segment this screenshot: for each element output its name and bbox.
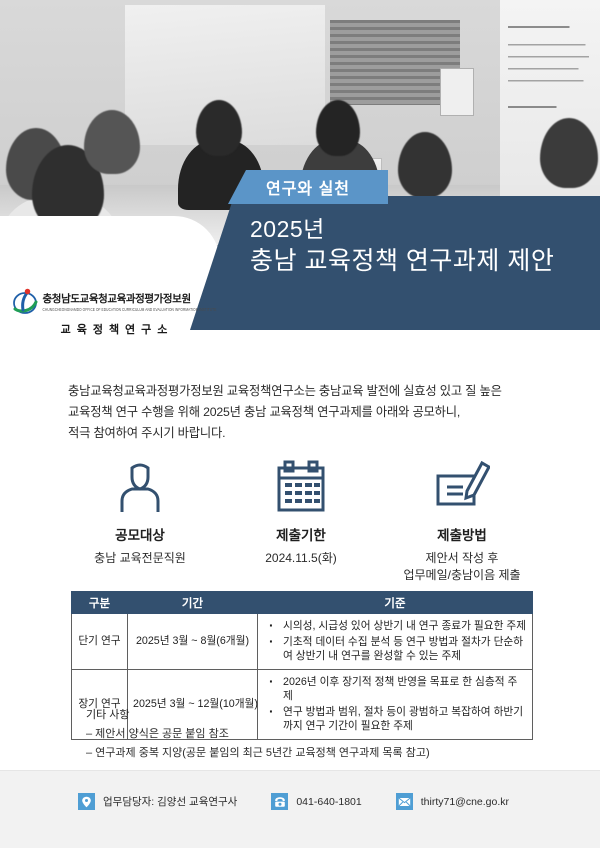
footer-phone: 041-640-1801 xyxy=(271,793,361,810)
notes-title: 기타 사항 xyxy=(86,706,430,725)
poster-page: 연구와 실천 2025년 충남 교육정책 연구과제 제안 충청남도교육청교육과정… xyxy=(0,0,600,848)
info-columns: 공모대상 충남 교육전문직원 xyxy=(60,458,542,584)
info-title: 제출기한 xyxy=(276,524,326,544)
intro-paragraph: 충남교육청교육과정평가정보원 교육정책연구소는 충남교육 발전에 실효성 있고 … xyxy=(68,381,538,444)
info-column-target: 공모대상 충남 교육전문직원 xyxy=(60,458,220,584)
title-line-2: 충남 교육정책 연구과제 제안 xyxy=(250,244,554,278)
notes-item: – 연구과제 중복 지양(공문 붙임의 최근 5년간 교육정책 연구과제 목록 … xyxy=(86,744,430,763)
ribbon-label: 연구와 실천 xyxy=(266,175,350,199)
table-header-cell: 구분 xyxy=(72,592,128,614)
criteria-item: 기초적 데이터 수집 분석 등 연구 방법과 절차가 단순하여 상반기 내 연구… xyxy=(263,635,527,664)
footer-contact-person: 업무담당자: 김양선 교육연구사 xyxy=(78,793,237,810)
info-title: 공모대상 xyxy=(115,524,165,544)
footer-email-text: thirty71@cne.go.kr xyxy=(421,796,509,808)
info-desc-line: 충남 교육전문직원 xyxy=(94,550,186,567)
info-desc-line: 업무메일/충남이음 제출 xyxy=(403,567,520,584)
footer-email: thirty71@cne.go.kr xyxy=(396,793,509,810)
table-cell-period: 2025년 3월 ~ 8월(6개월) xyxy=(128,614,258,670)
logo-organization-name: 충청남도교육청교육과정평가정보원 xyxy=(43,291,217,306)
criteria-item: 2026년 이후 장기적 정책 반영을 목표로 한 심층적 주제 xyxy=(263,675,527,704)
calendar-icon xyxy=(276,458,326,514)
swoosh-emblem-icon xyxy=(12,287,38,315)
info-desc: 충남 교육전문직원 xyxy=(94,550,186,567)
person-head xyxy=(196,100,242,156)
intro-line-3: 적극 참여하여 주시기 바랍니다. xyxy=(68,423,538,444)
info-title: 제출방법 xyxy=(437,524,487,544)
info-column-deadline: 제출기한 2024.11.5(화) xyxy=(221,458,381,584)
logo-organization-roman: CHUNGCHEONGNAMDO OFFICE OF EDUCATION CUR… xyxy=(43,307,217,313)
notes-section: 기타 사항 – 제안서 양식은 공문 붙임 참조 – 연구과제 중복 지양(공문… xyxy=(86,706,430,763)
footer-phone-text: 041-640-1801 xyxy=(296,796,361,808)
table-header-row: 구분 기간 기준 xyxy=(72,592,533,614)
info-desc: 제안서 작성 후 업무메일/충남이음 제출 xyxy=(403,550,520,584)
phone-icon xyxy=(271,793,288,810)
easel-card xyxy=(440,68,474,116)
person-icon xyxy=(117,458,163,514)
organization-logo: 충청남도교육청교육과정평가정보원 CHUNGCHEONGNAMDO OFFICE… xyxy=(14,287,214,337)
info-desc: 2024.11.5(화) xyxy=(265,550,337,567)
info-desc-line: 2024.11.5(화) xyxy=(265,550,337,567)
wall-poster xyxy=(508,10,596,130)
notes-item: – 제안서 양식은 공문 붙임 참조 xyxy=(86,725,430,744)
person-head xyxy=(316,100,360,156)
intro-line-2: 교육정책 연구 수행을 위해 2025년 충남 교육정책 연구과제를 아래와 공… xyxy=(68,402,538,423)
document-pencil-icon xyxy=(434,458,490,514)
location-pin-icon xyxy=(78,793,95,810)
info-desc-line: 제안서 작성 후 xyxy=(403,550,520,567)
logo-institute-name: 교육정책연구소 xyxy=(55,321,174,337)
table-cell-kind: 단기 연구 xyxy=(72,614,128,670)
table-header-cell: 기준 xyxy=(258,592,533,614)
ribbon-banner: 연구와 실천 xyxy=(228,170,388,204)
title-line-1: 2025년 xyxy=(250,214,554,244)
footer-contact-text: 업무담당자: 김양선 교육연구사 xyxy=(103,794,237,809)
table-header-cell: 기간 xyxy=(128,592,258,614)
envelope-icon xyxy=(396,793,413,810)
info-column-method: 제출방법 제안서 작성 후 업무메일/충남이음 제출 xyxy=(382,458,542,584)
page-title: 2025년 충남 교육정책 연구과제 제안 xyxy=(250,214,554,278)
intro-line-1: 충남교육청교육과정평가정보원 교육정책연구소는 충남교육 발전에 실효성 있고 … xyxy=(68,381,538,402)
table-cell-criteria: 시의성, 시급성 있어 상반기 내 연구 종료가 필요한 주제 기초적 데이터 … xyxy=(258,614,533,670)
table-row: 단기 연구 2025년 3월 ~ 8월(6개월) 시의성, 시급성 있어 상반기… xyxy=(72,614,533,670)
footer-bar: 업무담당자: 김양선 교육연구사 041-640-1801 xyxy=(0,770,600,848)
criteria-item: 시의성, 시급성 있어 상반기 내 연구 종료가 필요한 주제 xyxy=(263,619,527,634)
